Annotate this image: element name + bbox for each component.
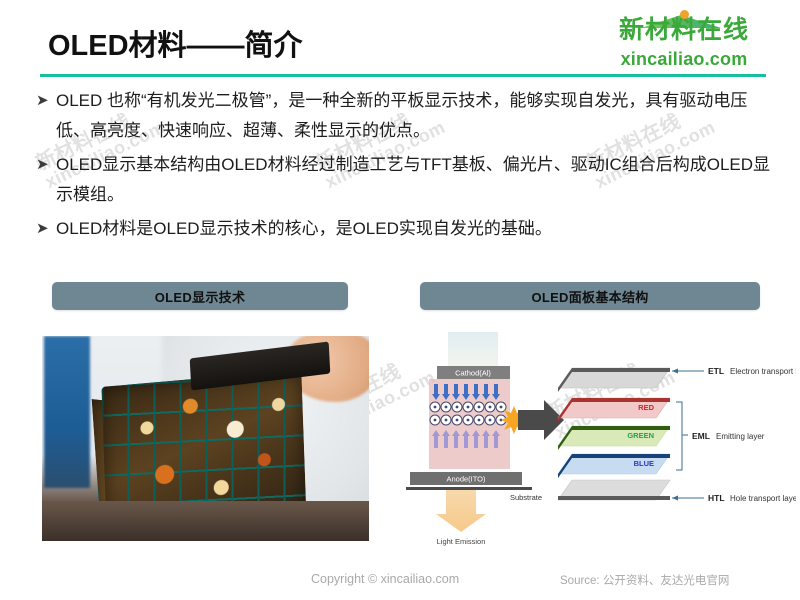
green-layer-label: GREEN [627,431,654,440]
red-layer-label: RED [638,403,654,412]
blue-layer-label: BLUE [634,459,654,468]
logo-domain: xincailiao.com [596,49,772,70]
bullet-arrow-icon: ➤ [36,214,56,244]
logo-mark: 新材料在线 [596,14,772,48]
bullet-text: OLED材料是OLED显示技术的核心，是OLED实现自发光的基础。 [56,214,552,244]
section-header-oled-display-tech: OLED显示技术 [52,282,348,310]
copyright-text: Copyright © xincailiao.com [311,572,459,586]
list-item: ➤ OLED 也称“有机发光二极管”，是一种全新的平板显示技术，能够实现自发光，… [36,86,776,146]
brand-logo: 新材料在线 xincailiao.com [596,14,772,70]
bullet-arrow-icon: ➤ [36,86,56,116]
etl-abbr-label: ETL [708,366,724,376]
title-divider [40,74,766,77]
substrate-label: Substrate [510,493,542,502]
bullet-arrow-icon: ➤ [36,150,56,180]
bullet-text: OLED 也称“有机发光二极管”，是一种全新的平板显示技术，能够实现自发光，具有… [56,86,776,146]
section-header-label: OLED显示技术 [155,287,246,306]
list-item: ➤ OLED显示基本结构由OLED材料经过制造工艺与TFT基板、偏光片、驱动IC… [36,150,776,210]
source-text: Source: 公开资料、友达光电官网 [560,572,729,588]
section-header-oled-panel-structure: OLED面板基本结构 [420,282,760,310]
bullet-text: OLED显示基本结构由OLED材料经过制造工艺与TFT基板、偏光片、驱动IC组合… [56,150,776,210]
oled-panel-structure-diagram: Cathod(Al) [404,332,796,550]
bullet-list: ➤ OLED 也称“有机发光二极管”，是一种全新的平板显示技术，能够实现自发光，… [36,86,776,248]
htl-abbr-label: HTL [708,493,725,503]
list-item: ➤ OLED材料是OLED显示技术的核心，是OLED实现自发光的基础。 [36,214,776,244]
anode-label: Anode(ITO) [446,475,486,484]
flexible-oled-photo [42,336,369,541]
eml-abbr-label: EML [692,431,710,441]
section-header-label: OLED面板基本结构 [531,287,648,306]
etl-name-label: Electron transport layer [730,367,796,376]
sun-dot-icon [680,10,689,19]
photo-table-surface [42,501,369,541]
light-emission-label: Light Emission [437,537,486,546]
photo-blue-panel [44,336,90,488]
eml-name-label: Emitting layer [716,432,765,441]
htl-name-label: Hole transport layer [730,494,796,503]
cathode-label: Cathod(Al) [455,369,491,378]
page-title: OLED材料——简介 [48,22,303,64]
